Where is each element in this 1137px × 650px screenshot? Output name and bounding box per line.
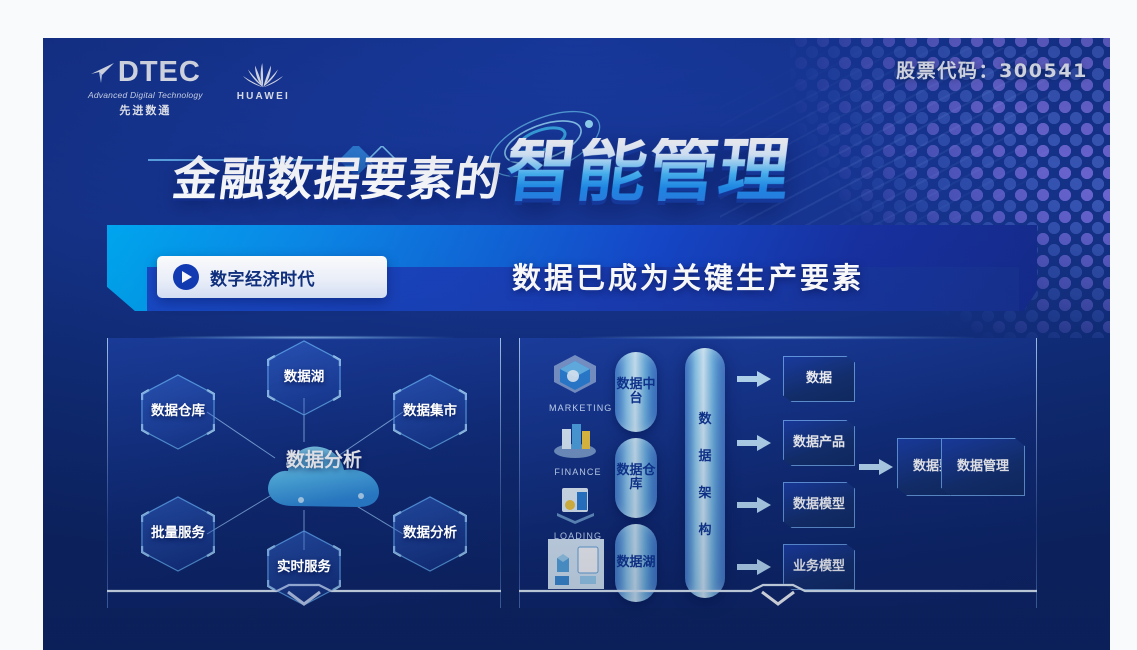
pillar-char: 构	[698, 519, 711, 538]
finance-chart-icon	[549, 416, 601, 460]
title-block: 金融数据要素的 智能管理	[43, 104, 1110, 219]
output-box-data[interactable]: 数据	[783, 356, 855, 402]
section-tag-pill[interactable]: 数字经济时代	[157, 256, 387, 298]
node-label: 实时服务	[277, 560, 331, 575]
panel-bottom-chevron	[519, 582, 1037, 608]
output-label: 业务模型	[793, 560, 845, 575]
title-part-1: 金融数据要素的	[170, 156, 505, 202]
final-label: 数据管理	[957, 460, 1009, 475]
source-label: FINANCE	[549, 467, 607, 477]
source-marketing[interactable]: MARKETING	[549, 352, 607, 413]
screenshot-canvas: DTEC Advanced Digital Technology 先进数通	[0, 0, 1137, 650]
output-label: 数据	[806, 372, 832, 387]
node-hex-data-warehouse[interactable]: 数据仓库	[141, 374, 215, 450]
layer-label: 数据湖	[616, 556, 655, 570]
title-part-2: 智能管理	[502, 138, 794, 202]
section-tag-label: 数字经济时代	[210, 265, 315, 290]
output-label: 数据产品	[793, 436, 845, 451]
dtec-tagline: Advanced Digital Technology	[88, 90, 203, 100]
arrow-icon	[737, 558, 771, 576]
output-box-data-model[interactable]: 数据模型	[783, 482, 855, 528]
node-label: 数据分析	[403, 526, 457, 541]
panel-left-border	[519, 338, 520, 608]
layer-label: 数据仓库	[615, 464, 657, 493]
arrow-icon	[737, 434, 771, 452]
center-cloud-label: 数据分析	[259, 450, 389, 471]
data-architecture-pillar[interactable]: 数 据 架 构	[685, 348, 725, 598]
dtec-wordmark: DTEC	[118, 58, 201, 87]
node-label: 数据仓库	[151, 404, 205, 419]
layer-pill-data-warehouse[interactable]: 数据仓库	[615, 438, 657, 518]
final-box-data-management[interactable]: 数据管理	[941, 438, 1025, 496]
huawei-logo: HUAWEI	[237, 60, 290, 102]
main-title: 金融数据要素的 智能管理	[173, 138, 790, 202]
banner-headline: 数据已成为关键生产要素	[512, 255, 864, 297]
presentation-slide: DTEC Advanced Digital Technology 先进数通	[43, 38, 1110, 650]
section-banner: 数字经济时代 数据已成为关键生产要素	[107, 225, 1037, 311]
play-icon	[173, 264, 199, 290]
pillar-char: 数	[698, 408, 711, 427]
pillar-char: 架	[698, 482, 711, 501]
panel-top-glow	[581, 336, 975, 339]
pillar-char: 据	[698, 445, 711, 464]
node-hex-data-mart[interactable]: 数据集市	[393, 374, 467, 450]
layer-label: 数据中台	[615, 378, 657, 407]
dtec-arrow-icon	[90, 61, 116, 85]
node-label: 批量服务	[151, 526, 205, 541]
panel-right-border	[1036, 338, 1037, 608]
arrow-icon	[737, 370, 771, 388]
source-label: MARKETING	[549, 403, 607, 413]
node-hex-batch-service[interactable]: 批量服务	[141, 496, 215, 572]
huawei-flower-icon	[240, 60, 286, 88]
loading-box-icon	[549, 480, 601, 524]
node-hex-data-analysis[interactable]: 数据分析	[393, 496, 467, 572]
node-hex-data-lake[interactable]: 数据湖	[267, 340, 341, 416]
stock-code-label: 股票代码：300541	[896, 56, 1088, 83]
arrow-icon	[859, 458, 893, 476]
node-label: 数据集市	[403, 404, 457, 419]
huawei-wordmark: HUAWEI	[237, 91, 290, 102]
left-diagram-panel: 数据分析 数据仓库 数据湖	[107, 338, 501, 608]
marketing-cube-icon	[549, 352, 601, 396]
layer-pill-data-midplatform[interactable]: 数据中台	[615, 352, 657, 432]
arrow-icon	[737, 496, 771, 514]
source-finance[interactable]: FINANCE	[549, 416, 607, 477]
output-box-data-product[interactable]: 数据产品	[783, 420, 855, 466]
node-label: 数据湖	[284, 370, 325, 385]
source-loading[interactable]: LOADING	[549, 480, 607, 541]
output-label: 数据模型	[793, 498, 845, 513]
center-cloud-shape	[259, 434, 389, 518]
right-diagram-panel: MARKETING FINANCE LOADING	[519, 338, 1037, 608]
